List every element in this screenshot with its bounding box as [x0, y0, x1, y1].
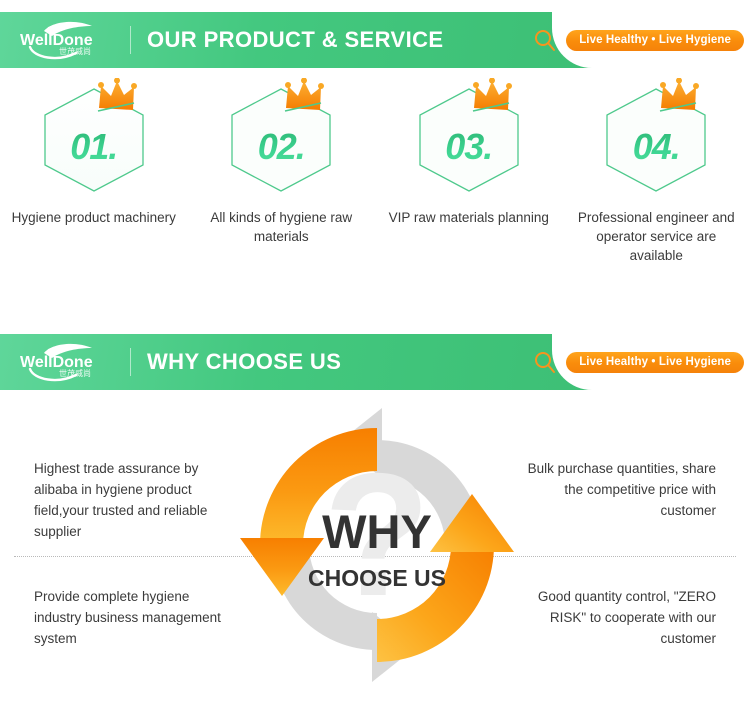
- why-choose-us-body: Highest trade assurance by alibaba in hy…: [0, 390, 750, 711]
- why-subtitle: CHOOSE US: [308, 565, 446, 591]
- crown-icon: [656, 78, 702, 118]
- product-caption: Professional engineer and operator servi…: [571, 208, 741, 265]
- crown-icon: [94, 78, 140, 118]
- crown-icon: [281, 78, 327, 118]
- product-number: 01.: [38, 126, 150, 168]
- swoosh-logo-icon: WellDone 世茂威尚: [14, 339, 122, 385]
- reason-bottom-right: Good quantity control, "ZERO RISK" to co…: [511, 586, 716, 649]
- banner-why-choose-us: WellDone 世茂威尚 WHY CHOOSE US Live Healthy…: [0, 334, 750, 390]
- crown-icon: [469, 78, 515, 118]
- product-caption: Hygiene product machinery: [12, 208, 176, 227]
- brand-logo[interactable]: WellDone 世茂威尚: [14, 339, 122, 385]
- product-hex-row: 01. Hygiene product machinery 02. All ki…: [0, 78, 750, 265]
- why-title: WHY: [322, 505, 432, 558]
- tagline-badge[interactable]: Live Healthy • Live Hygiene: [566, 352, 744, 373]
- product-caption: VIP raw materials planning: [389, 208, 549, 227]
- logo-divider: [130, 26, 131, 54]
- svg-text:世茂威尚: 世茂威尚: [59, 368, 91, 378]
- circular-arrows-icon: ? WHY CHOOSE US: [232, 400, 522, 695]
- reason-top-left: Highest trade assurance by alibaba in hy…: [34, 458, 239, 542]
- product-number: 04.: [600, 126, 712, 168]
- reason-bottom-left: Provide complete hygiene industry busine…: [34, 586, 239, 649]
- product-item-03[interactable]: 03. VIP raw materials planning: [375, 78, 563, 265]
- section-title: OUR PRODUCT & SERVICE: [147, 27, 443, 53]
- search-icon[interactable]: [532, 27, 558, 53]
- search-icon[interactable]: [532, 349, 558, 375]
- logo-divider: [130, 348, 131, 376]
- tagline-badge[interactable]: Live Healthy • Live Hygiene: [566, 30, 744, 51]
- product-item-01[interactable]: 01. Hygiene product machinery: [0, 78, 188, 265]
- product-number: 03.: [413, 126, 525, 168]
- swoosh-logo-icon: WellDone 世茂威尚: [14, 17, 122, 63]
- product-caption: All kinds of hygiene raw materials: [196, 208, 366, 246]
- reason-top-right: Bulk purchase quantities, share the comp…: [511, 458, 716, 521]
- banner-our-product-service: WellDone 世茂威尚 OUR PRODUCT & SERVICE Live…: [0, 12, 750, 68]
- brand-logo[interactable]: WellDone 世茂威尚: [14, 17, 122, 63]
- svg-text:世茂威尚: 世茂威尚: [59, 46, 91, 56]
- section-title: WHY CHOOSE US: [147, 349, 341, 375]
- product-number: 02.: [225, 126, 337, 168]
- product-item-02[interactable]: 02. All kinds of hygiene raw materials: [188, 78, 376, 265]
- product-item-04[interactable]: 04. Professional engineer and operator s…: [563, 78, 750, 265]
